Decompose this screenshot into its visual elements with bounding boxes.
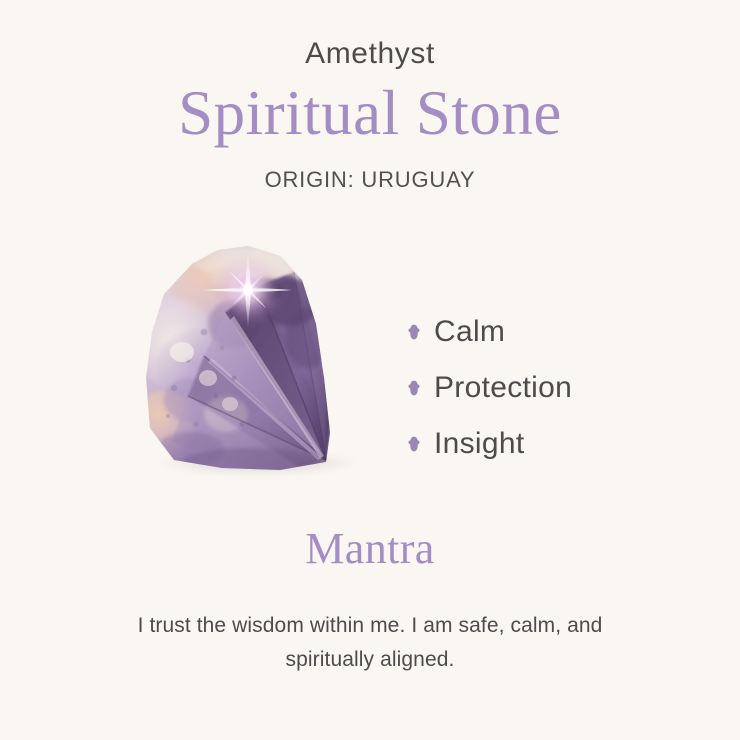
mantra-section: Mantra I trust the wisdom within me. I a… <box>0 524 740 677</box>
property-label: Insight <box>434 429 525 459</box>
properties-list: Calm Protection Insight <box>408 304 572 472</box>
mantra-text: I trust the wisdom within me. I am safe,… <box>125 609 615 677</box>
gem-bullet-icon <box>408 324 420 340</box>
list-item: Insight <box>408 416 572 472</box>
list-item: Calm <box>408 304 572 360</box>
stone-name: Amethyst <box>0 36 740 72</box>
property-label: Protection <box>434 373 572 403</box>
page-title: Spiritual Stone <box>0 78 740 149</box>
stone-origin: ORIGIN: URUGUAY <box>0 167 740 193</box>
property-label: Calm <box>434 317 505 347</box>
card-body: Calm Protection Insight <box>0 228 740 498</box>
amethyst-info-card: Amethyst Spiritual Stone ORIGIN: URUGUAY <box>0 0 740 740</box>
gem-bullet-icon <box>408 436 420 452</box>
list-item: Protection <box>408 360 572 416</box>
gem-bullet-icon <box>408 380 420 396</box>
mantra-heading: Mantra <box>0 524 740 575</box>
crystal-illustration <box>130 228 380 498</box>
amethyst-crystal-icon <box>130 228 380 498</box>
card-header: Amethyst Spiritual Stone ORIGIN: URUGUAY <box>0 36 740 193</box>
